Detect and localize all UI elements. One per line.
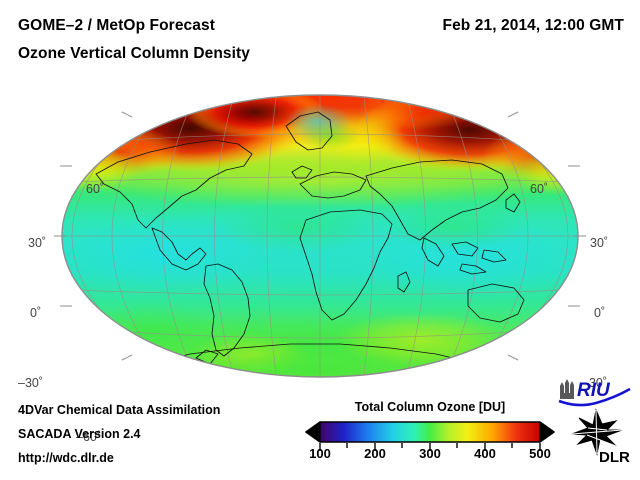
dlr-mark-icon xyxy=(572,410,622,454)
forecast-datetime: Feb 21, 2014, 12:00 GMT xyxy=(443,17,625,35)
colorbar-tick-100: 100 xyxy=(297,446,343,461)
lat-label-left-30: 30˚ xyxy=(28,236,46,250)
colorbar-tick-500: 500 xyxy=(517,446,563,461)
colorbar-ramp xyxy=(306,422,554,442)
colorbar-tick-200: 200 xyxy=(352,446,398,461)
lat-label-right-0: 0˚ xyxy=(594,306,605,320)
dlr-logo: DLR xyxy=(566,408,632,464)
colorbar-tick-400: 400 xyxy=(462,446,508,461)
colorbar-title: Total Column Ozone [DU] xyxy=(325,400,535,414)
lat-label-left-0: 0˚ xyxy=(30,306,41,320)
lat-label-left-m30: –30˚ xyxy=(18,376,43,390)
dlr-logo-text: DLR xyxy=(599,449,630,464)
riu-logo-text: RIU xyxy=(577,380,611,401)
graticule xyxy=(62,95,578,377)
lat-label-left-60: 60˚ xyxy=(86,182,104,196)
riu-logo: RIU xyxy=(556,377,632,407)
riu-tower-icon xyxy=(560,379,574,399)
ozone-field xyxy=(44,84,606,388)
ozone-forecast-figure: GOME–2 / MetOp Forecast Ozone Vertical C… xyxy=(0,0,640,480)
footer-line-version: SACADA Version 2.4 xyxy=(18,427,141,441)
map-canvas xyxy=(0,78,640,388)
page-subtitle: Ozone Vertical Column Density xyxy=(18,45,250,63)
lat-label-right-30: 30˚ xyxy=(590,236,608,250)
ozone-map: 60˚ 30˚ 0˚ –30˚ –60˚ 60˚ 30˚ 0˚ –30˚ –60… xyxy=(0,78,640,388)
colorbar-tick-300: 300 xyxy=(407,446,453,461)
footer-line-url: http://wdc.dlr.de xyxy=(18,451,114,465)
page-title: GOME–2 / MetOp Forecast xyxy=(18,17,215,35)
lat-label-right-60: 60˚ xyxy=(530,182,548,196)
footer-line-method: 4DVar Chemical Data Assimilation xyxy=(18,403,220,417)
